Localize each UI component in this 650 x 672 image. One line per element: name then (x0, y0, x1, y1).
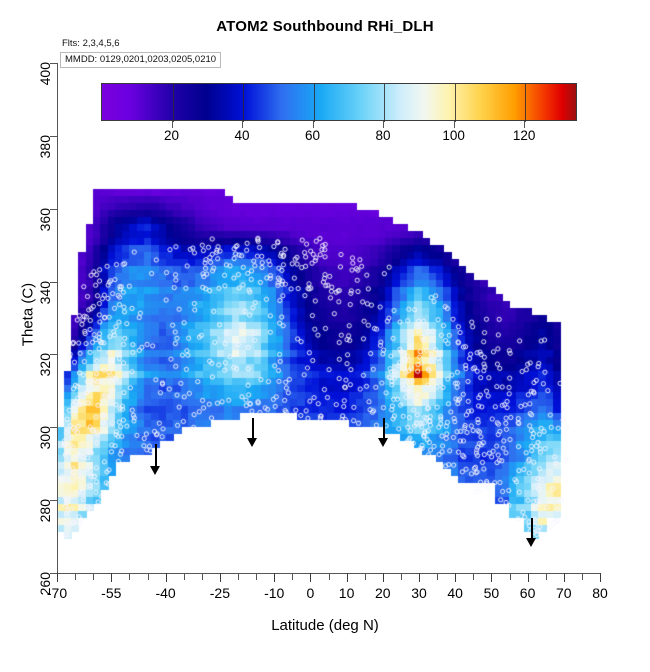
x-tick-minor (365, 573, 366, 580)
x-tick-minor (148, 573, 149, 580)
x-tick-major (455, 573, 456, 582)
x-tick-label: 80 (570, 585, 630, 601)
y-tick-label: 400 (37, 62, 53, 162)
x-tick-minor (184, 573, 185, 580)
x-tick-label: -25 (190, 585, 250, 601)
y-axis-title: Theta (C) (20, 235, 37, 395)
flights-annotation: Flts: 2,3,4,5,6 (62, 38, 120, 49)
x-tick-label: -40 (136, 585, 196, 601)
x-tick-minor (401, 573, 402, 580)
x-tick-major (310, 573, 311, 582)
x-tick-major (220, 573, 221, 582)
x-tick-major (600, 573, 601, 582)
x-tick-minor (75, 573, 76, 580)
x-tick-label: -70 (27, 585, 87, 601)
x-tick-major (274, 573, 275, 582)
x-tick-major (528, 573, 529, 582)
x-tick-minor (582, 573, 583, 580)
tropopause-arrow (246, 418, 259, 447)
x-tick-label: -55 (81, 585, 141, 601)
x-tick-minor (329, 573, 330, 580)
tropopause-arrow (377, 418, 390, 447)
x-tick-major (419, 573, 420, 582)
x-tick-major (111, 573, 112, 582)
x-tick-minor (292, 573, 293, 580)
x-tick-major (166, 573, 167, 582)
x-tick-minor (473, 573, 474, 580)
x-tick-minor (546, 573, 547, 580)
x-tick-major (383, 573, 384, 582)
x-tick-minor (256, 573, 257, 580)
figure-root: ATOM2 Southbound RHi_DLH Flts: 2,3,4,5,6… (0, 0, 650, 650)
x-tick-minor (129, 573, 130, 580)
x-tick-minor (238, 573, 239, 580)
y-axis-line (57, 63, 58, 573)
x-tick-minor (510, 573, 511, 580)
x-axis-title: Latitude (deg N) (0, 617, 650, 634)
heatmap-canvas (57, 63, 600, 573)
x-tick-minor (202, 573, 203, 580)
x-tick-major (564, 573, 565, 582)
tropopause-arrow (525, 518, 538, 547)
plot-area: 260280300320340360380400 -70-55-40-25-10… (57, 63, 600, 573)
x-tick-major (57, 573, 58, 582)
x-tick-major (347, 573, 348, 582)
chart-title: ATOM2 Southbound RHi_DLH (0, 18, 650, 35)
x-tick-major (491, 573, 492, 582)
x-tick-minor (437, 573, 438, 580)
x-tick-minor (93, 573, 94, 580)
tropopause-arrow (149, 444, 162, 475)
